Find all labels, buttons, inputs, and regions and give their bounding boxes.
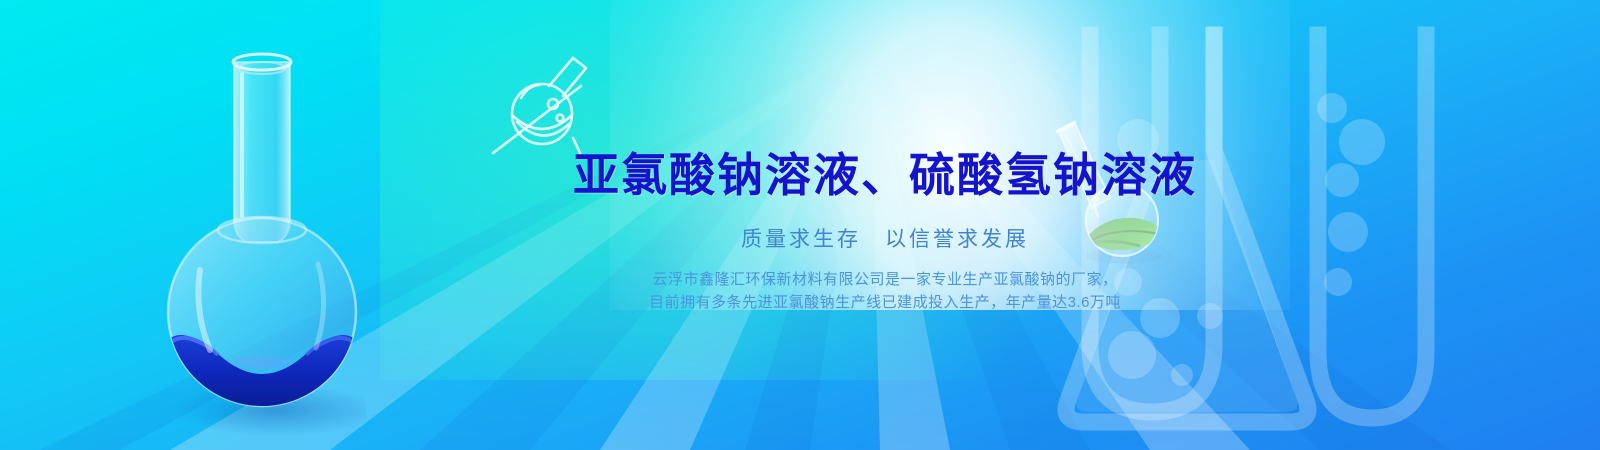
- banner-headline: 亚氯酸钠溶液、硫酸氢钠溶液: [0, 148, 1600, 202]
- banner-text-block: 亚氯酸钠溶液、硫酸氢钠溶液 质量求生存 以信誉求发展 云浮市鑫隆汇环保新材料有限…: [0, 148, 1600, 314]
- banner-description-line-1: 云浮市鑫隆汇环保新材料有限公司是一家专业生产亚氯酸钠的厂家，: [0, 268, 1600, 291]
- banner-subtitle: 质量求生存 以信誉求发展: [0, 226, 1600, 254]
- promo-banner: 亚氯酸钠溶液、硫酸氢钠溶液 质量求生存 以信誉求发展 云浮市鑫隆汇环保新材料有限…: [0, 0, 1600, 450]
- banner-description-line-2: 目前拥有多条先进亚氯酸钠生产线已建成投入生产，年产量达3.6万吨: [0, 291, 1600, 314]
- round-flask-outline-icon: [487, 52, 599, 156]
